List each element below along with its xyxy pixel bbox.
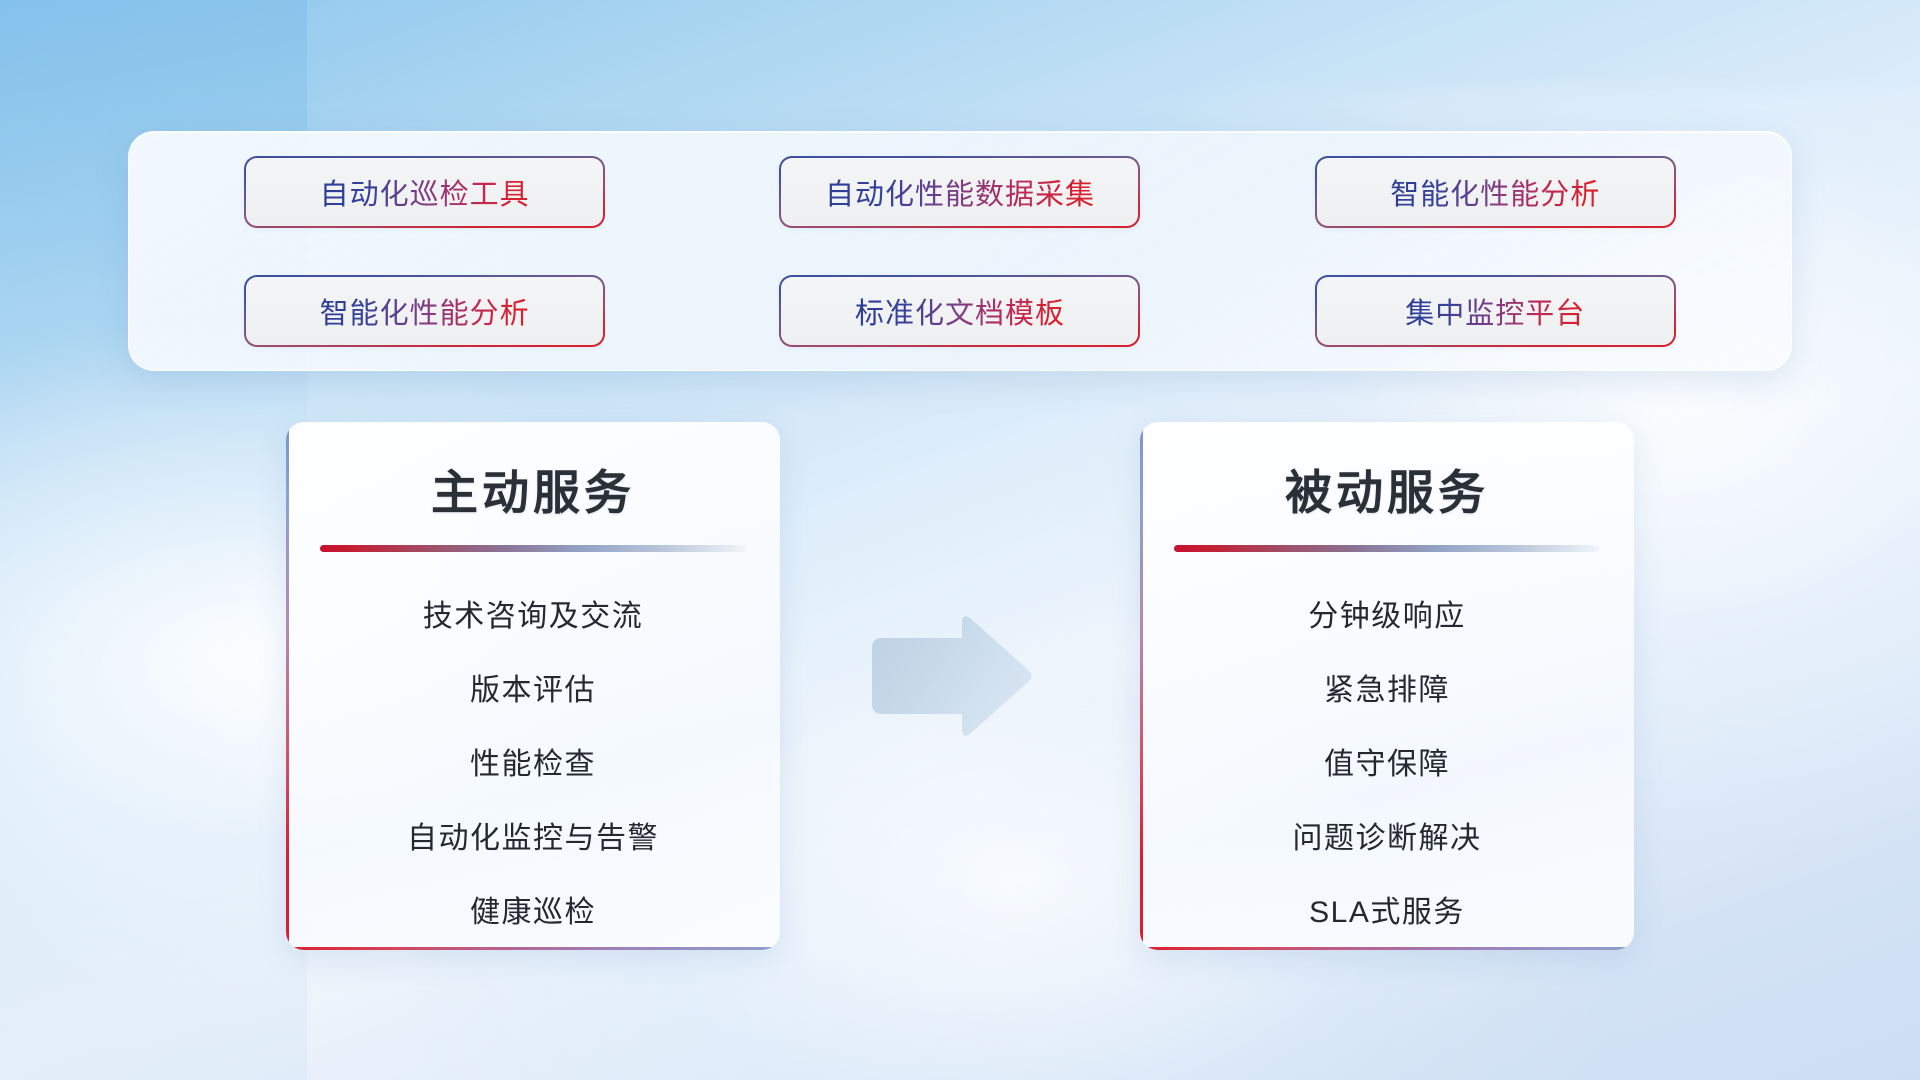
service-card-title: 主动服务 [286,454,780,523]
capability-chip-label: 智能化性能分析 [1390,171,1600,213]
service-card-proactive[interactable]: 主动服务 技术咨询及交流 版本评估 性能检查 自动化监控与告警 健康巡检 [286,422,780,950]
capability-chip-label: 自动化性能数据采集 [825,171,1095,213]
capability-panel: 自动化巡检工具 自动化性能数据采集 智能化性能分析 智能化性能分析 标准化文档模… [128,131,1792,371]
service-list-item: SLA式服务 [1140,876,1634,950]
service-card-divider [320,545,746,552]
capability-chip-label: 自动化巡检工具 [320,171,530,213]
capability-chip-label: 标准化文档模板 [855,290,1065,332]
capability-chip-label: 智能化性能分析 [320,290,530,332]
capability-chip-automated-performance-data-collection[interactable]: 自动化性能数据采集 [781,158,1138,226]
service-card-title: 被动服务 [1140,454,1634,523]
service-list-item: 分钟级响应 [1140,580,1634,654]
service-list-item: 问题诊断解决 [1140,802,1634,876]
service-list-item: 健康巡检 [286,876,780,950]
capability-chip-automated-inspection-tool[interactable]: 自动化巡检工具 [246,158,603,226]
capability-chip-intelligent-performance-analysis-bottom[interactable]: 智能化性能分析 [246,277,603,345]
capability-chip-label: 集中监控平台 [1405,290,1585,332]
service-card-reactive[interactable]: 被动服务 分钟级响应 紧急排障 值守保障 问题诊断解决 SLA式服务 [1140,422,1634,950]
capability-chip-standardized-document-template[interactable]: 标准化文档模板 [781,277,1138,345]
flow-arrow-right-icon [866,612,1036,740]
service-item-list: 分钟级响应 紧急排障 值守保障 问题诊断解决 SLA式服务 [1140,580,1634,950]
service-item-list: 技术咨询及交流 版本评估 性能检查 自动化监控与告警 健康巡检 [286,580,780,950]
service-list-item: 性能检查 [286,728,780,802]
service-list-item: 值守保障 [1140,728,1634,802]
infographic-canvas: 自动化巡检工具 自动化性能数据采集 智能化性能分析 智能化性能分析 标准化文档模… [0,0,1920,1080]
capability-chip-intelligent-performance-analysis-top[interactable]: 智能化性能分析 [1317,158,1674,226]
service-list-item: 紧急排障 [1140,654,1634,728]
service-list-item: 自动化监控与告警 [286,802,780,876]
capability-chip-centralized-monitoring-platform[interactable]: 集中监控平台 [1317,277,1674,345]
service-list-item: 技术咨询及交流 [286,580,780,654]
service-card-divider [1174,545,1600,552]
service-list-item: 版本评估 [286,654,780,728]
